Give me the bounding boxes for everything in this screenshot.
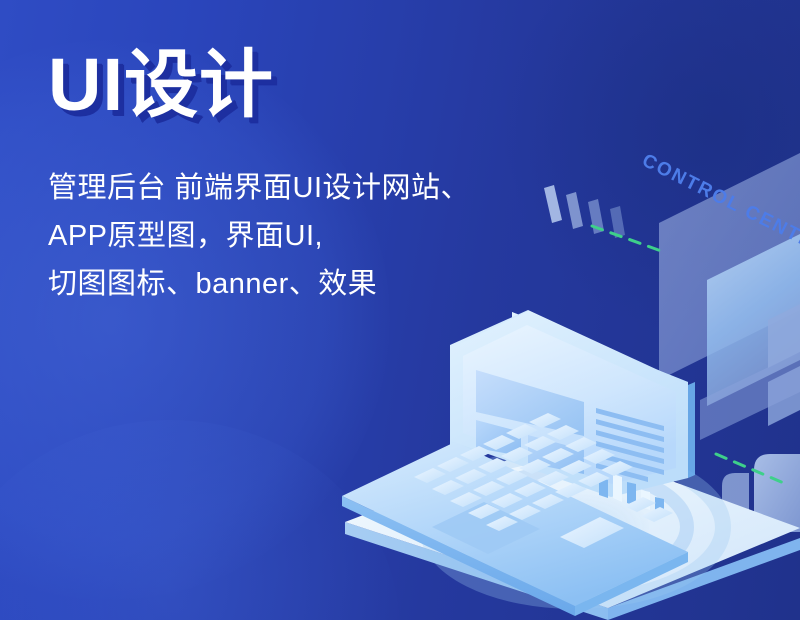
decorative-dashes-top xyxy=(590,222,670,258)
subtitle-line-1: 管理后台 前端界面UI设计网站、 xyxy=(48,164,470,212)
deco-bar-0 xyxy=(544,185,562,223)
laptop-lid-thickness xyxy=(688,382,695,478)
panel-slab xyxy=(700,352,800,440)
background-glow-bottom xyxy=(0,420,400,620)
laptop-keyboard xyxy=(414,413,673,548)
laptop-base-right-edge xyxy=(575,552,688,616)
laptop-base-front-edge xyxy=(342,496,575,616)
platform-side xyxy=(345,522,608,620)
banner-subtitle: 管理后台 前端界面UI设计网站、 APP原型图，界面UI, 切图图标、banne… xyxy=(48,164,470,308)
laptop-assembly xyxy=(342,311,695,616)
page-title: UI设计 xyxy=(48,42,470,128)
laptop-lid-panel xyxy=(530,308,686,476)
chart-bar-2 xyxy=(627,482,636,506)
chart-bar-4 xyxy=(655,497,664,514)
laptop-lid-back xyxy=(512,312,688,470)
screen-bar-chart xyxy=(599,474,664,514)
deco-bar-1 xyxy=(566,192,583,229)
ui-design-banner: CONTROL CENTER UI设计 管理后台 前端界面UI设计网站、 APP… xyxy=(0,0,800,620)
screen-small-block-right xyxy=(528,435,584,474)
laptop-display-outer xyxy=(450,308,686,494)
subtitle-line-3: 切图图标、banner、效果 xyxy=(48,260,470,308)
chart-bar-1 xyxy=(613,474,622,502)
chart-bar-0 xyxy=(599,478,608,498)
screen-hero-block xyxy=(476,370,584,436)
laptop-lid-left xyxy=(450,310,528,483)
laptop-screen-bezel xyxy=(512,312,688,470)
lid-bezel xyxy=(455,314,688,492)
screen-text-lines xyxy=(596,408,664,482)
ripple-rings xyxy=(427,453,723,601)
banner-text-block: UI设计 管理后台 前端界面UI设计网站、 APP原型图，界面UI, 切图图标、… xyxy=(48,42,470,308)
panel-edge-bottom xyxy=(768,366,800,426)
platform-side-right xyxy=(608,538,800,620)
laptop-display xyxy=(449,307,686,494)
screen-small-block-left xyxy=(476,420,521,456)
panel-front xyxy=(707,234,800,406)
laptop-bezel-left xyxy=(451,311,528,441)
laptop-base-top xyxy=(342,442,688,606)
chart-bar-3 xyxy=(641,490,650,510)
laptop-screen-inner xyxy=(463,325,676,484)
decorative-dashes-bottom xyxy=(714,450,794,490)
laptop-lid xyxy=(528,310,684,474)
laptop-screen-plate xyxy=(451,311,688,497)
laptop-bezel xyxy=(528,311,688,478)
laptop-trackpad xyxy=(432,502,540,554)
laptop xyxy=(449,307,688,494)
subtitle-line-2: APP原型图，界面UI, xyxy=(48,212,470,260)
lid-outer xyxy=(456,315,687,490)
laptop-body xyxy=(455,314,688,492)
laptop-screen-content xyxy=(476,370,664,514)
panel-edge-top xyxy=(768,304,800,368)
